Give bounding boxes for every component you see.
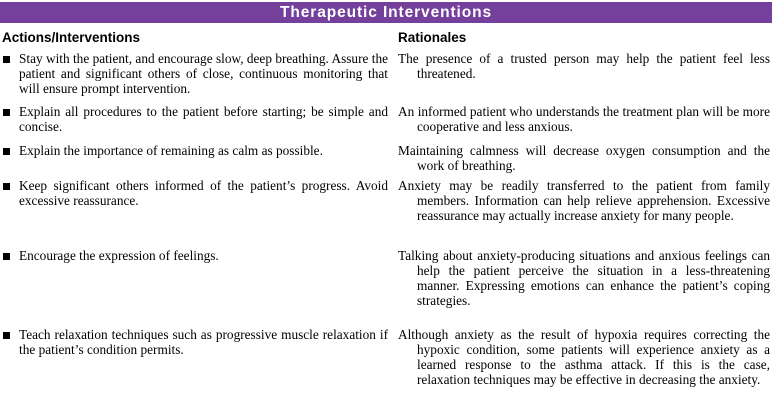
action-item: Explain all procedures to the patient be… [2, 104, 388, 134]
square-bullet-icon [3, 109, 10, 116]
table-row: Keep significant others informed of the … [2, 178, 388, 208]
action-item: Encourage the expression of feelings. [2, 248, 388, 263]
column-headings: Actions/Interventions Rationales [0, 30, 772, 48]
action-item: Stay with the patient, and encourage slo… [2, 51, 388, 96]
rationale-text: Although anxiety as the result of hypoxi… [398, 327, 770, 387]
action-text: Keep significant others informed of the … [19, 178, 388, 208]
action-item: Teach relaxation techniques such as prog… [2, 327, 388, 357]
action-text: Teach relaxation techniques such as prog… [19, 327, 388, 357]
action-text: Explain the importance of remaining as c… [19, 143, 323, 158]
action-text: Stay with the patient, and encourage slo… [19, 51, 388, 96]
table-row: Although anxiety as the result of hypoxi… [398, 327, 770, 387]
rationale-text: An informed patient who understands the … [398, 104, 770, 134]
rationale-text: Talking about anxiety-producing situatio… [398, 248, 770, 308]
action-text: Explain all procedures to the patient be… [19, 104, 388, 134]
table-row: Anxiety may be readily transferred to th… [398, 178, 770, 223]
content-table: Stay with the patient, and encourage slo… [0, 51, 772, 416]
rationale-text: Anxiety may be readily transferred to th… [398, 178, 770, 223]
table-row: The presence of a trusted person may hel… [398, 51, 770, 81]
table-row: Maintaining calmness will decrease oxyge… [398, 143, 770, 173]
column-heading-actions: Actions/Interventions [2, 30, 140, 46]
square-bullet-icon [3, 56, 10, 63]
column-heading-rationales: Rationales [398, 30, 466, 46]
table-row: Stay with the patient, and encourage slo… [2, 51, 388, 96]
action-item: Explain the importance of remaining as c… [2, 143, 388, 158]
square-bullet-icon [3, 253, 10, 260]
section-header-bar: Therapeutic Interventions [0, 2, 772, 23]
table-row: An informed patient who understands the … [398, 104, 770, 134]
rationale-text: Maintaining calmness will decrease oxyge… [398, 143, 770, 173]
square-bullet-icon [3, 183, 10, 190]
square-bullet-icon [3, 148, 10, 155]
table-row: Talking about anxiety-producing situatio… [398, 248, 770, 308]
table-row: Teach relaxation techniques such as prog… [2, 327, 388, 357]
action-text: Encourage the expression of feelings. [19, 248, 219, 263]
square-bullet-icon [3, 332, 10, 339]
table-row: Encourage the expression of feelings. [2, 248, 388, 263]
action-item: Keep significant others informed of the … [2, 178, 388, 208]
table-row: Explain the importance of remaining as c… [2, 143, 388, 158]
rationale-text: The presence of a trusted person may hel… [398, 51, 770, 81]
table-row: Explain all procedures to the patient be… [2, 104, 388, 134]
page-title: Therapeutic Interventions [280, 5, 492, 21]
